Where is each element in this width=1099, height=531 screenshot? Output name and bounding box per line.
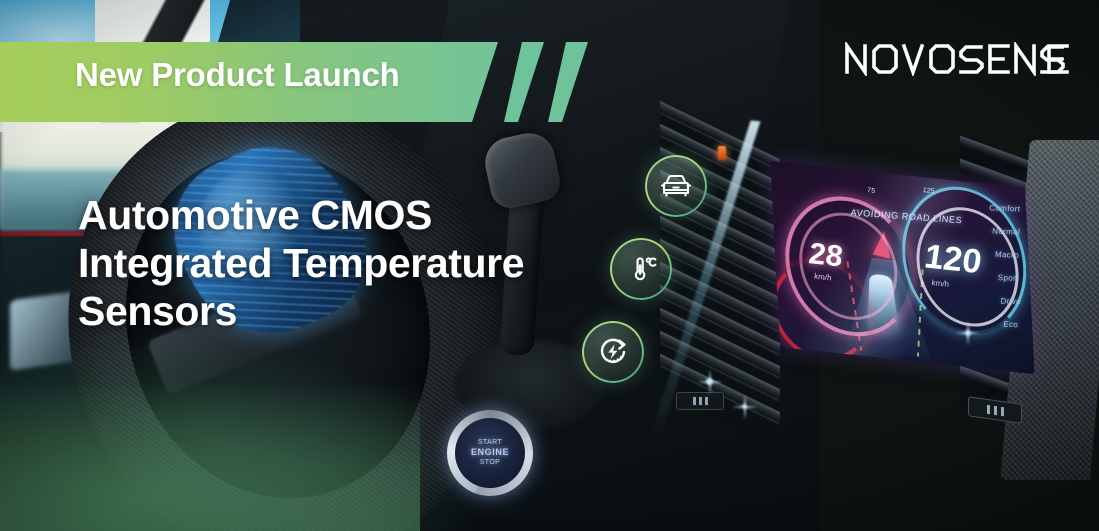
- headline-line-1: Automotive CMOS: [78, 192, 638, 240]
- banner-label: New Product Launch: [75, 56, 400, 94]
- feature-badge-temperature: [610, 238, 672, 300]
- feature-badge-automotive: [645, 155, 707, 217]
- novosense-wordmark-icon: [843, 42, 1071, 76]
- feature-badge-power: [582, 321, 644, 383]
- page-title: Automotive CMOS Integrated Temperature S…: [78, 192, 638, 336]
- product-launch-banner: START ENGINE STOP: [0, 0, 1099, 531]
- car-icon: [659, 169, 693, 203]
- headline-line-2: Integrated Temperature: [78, 240, 638, 288]
- lightning-bolt-gauge-icon: [595, 334, 631, 370]
- novosense-logo: [843, 42, 1071, 76]
- headline-line-3: Sensors: [78, 288, 638, 336]
- thermometer-celsius-icon: [624, 252, 658, 286]
